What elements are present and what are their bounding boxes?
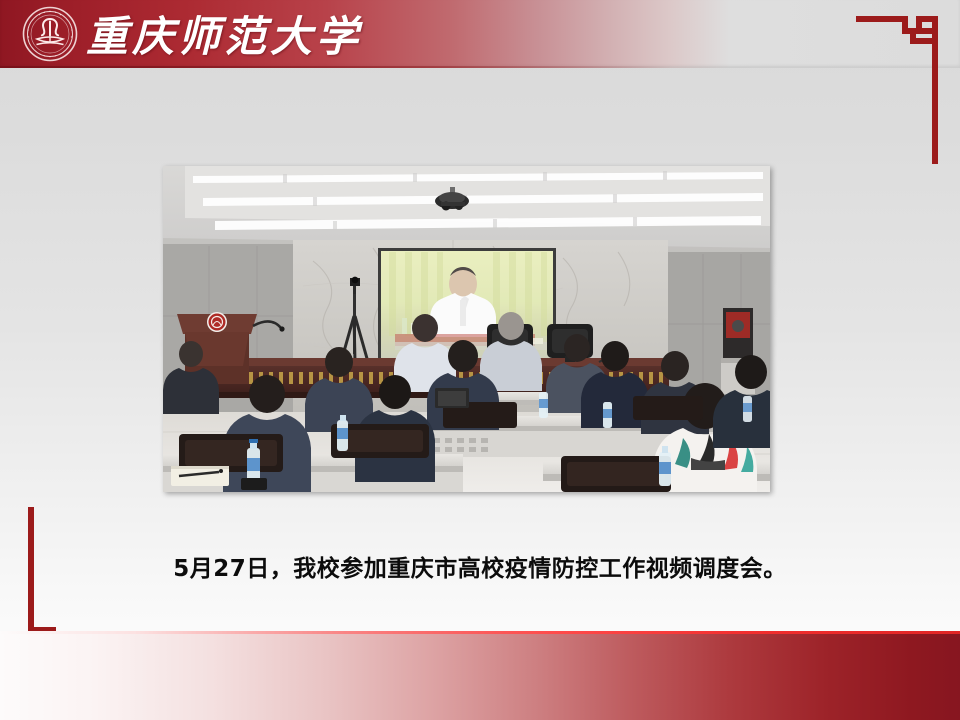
chair-back bbox=[633, 396, 703, 420]
footer-accent-line bbox=[0, 631, 960, 634]
water-bottle bbox=[539, 392, 548, 418]
university-seal-icon bbox=[22, 6, 78, 62]
water-bottle bbox=[743, 396, 752, 422]
university-name: 重庆师范大学 bbox=[86, 4, 362, 62]
water-bottle bbox=[337, 415, 348, 451]
meeting-photo bbox=[163, 166, 770, 492]
water-bottle bbox=[603, 402, 612, 428]
footer-band bbox=[0, 631, 960, 720]
notebook bbox=[171, 466, 229, 486]
slide-caption: 5月27日，我校参加重庆市高校疫情防控工作视频调度会。 bbox=[0, 549, 960, 583]
corner-ornament-top-right bbox=[856, 6, 952, 171]
chair-back bbox=[561, 456, 671, 492]
presentation-slide: 重庆师范大学 bbox=[0, 0, 960, 720]
header-banner: 重庆师范大学 bbox=[0, 0, 960, 68]
laptop bbox=[435, 388, 469, 408]
